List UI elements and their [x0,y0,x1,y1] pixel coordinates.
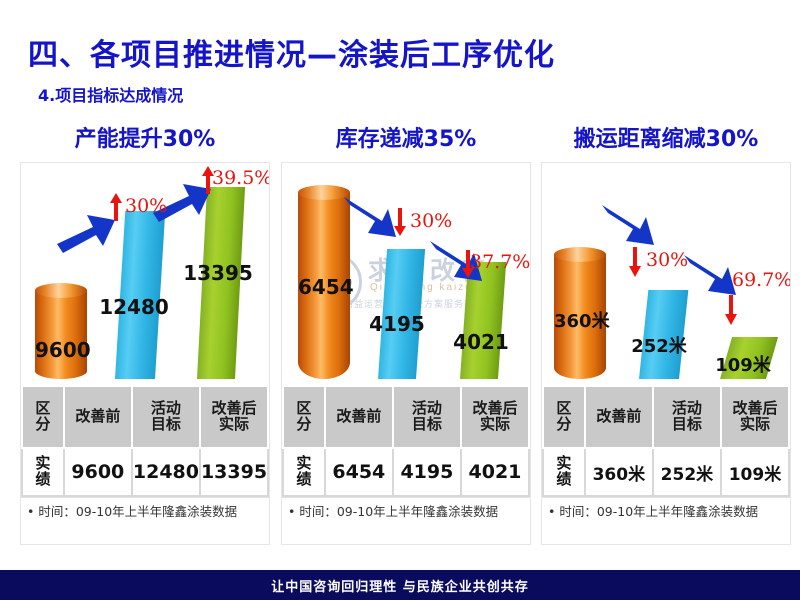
chart-capacity: 9600 12480 13395 [21,163,269,385]
th-target: 活动 目标 [393,386,461,448]
table-header-row: 区 分 改善前 活动 目标 改善后 [283,386,529,448]
th-actual: 改善后 实际 [461,386,529,448]
pct-label-2: 37.7% [470,251,530,273]
chart-distance: 360米 252米 109米 [542,163,790,385]
td-target: 12480 [132,448,200,496]
data-table-capacity: 区 分 改善前 活动 目标 改善后 [21,385,269,497]
panel-title-capacity: 产能提升30% [20,120,270,162]
th-actual: 改善后 实际 [721,386,789,448]
panel-note-inventory: • 时间：09-10年上半年隆鑫涂装数据 [282,497,530,526]
th-before: 改善前 [64,386,132,448]
panel-body-inventory: 求正改善 Qiu Zheng kaizen 精益运营整体解决方案服务商 6454… [281,162,531,545]
td-before: 360米 [585,448,653,496]
th-category: 区 分 [22,386,64,448]
metric-panel-distance: 搬运距离缩减30% 360米 252米 [541,120,791,545]
bar-target-inventory: 4195 [378,249,416,379]
table-row: 实 绩 6454 4195 4021 [283,448,529,496]
table-header-row: 区 分 改善前 活动 目标 改善后 [22,386,268,448]
trend-arrow-1-icon [600,199,662,247]
metric-panel-capacity: 产能提升30% 9600 12480 [20,120,270,545]
panels-container: 产能提升30% 9600 12480 [0,120,800,550]
pct-label-1: 30% [410,210,452,232]
bar-before-label: 360米 [554,307,606,333]
bar-target-label: 12480 [79,295,189,319]
td-before: 6454 [325,448,393,496]
pct-arrow-1-icon [629,247,641,282]
bar-before-label: 9600 [35,338,87,362]
bar-target-distance: 252米 [639,290,679,379]
trend-arrow-1-icon [55,210,117,254]
th-before: 改善前 [585,386,653,448]
th-target: 活动 目标 [653,386,721,448]
pct-arrow-1-icon [394,208,406,241]
bar-before-label: 6454 [298,275,350,299]
td-row-label: 实 绩 [543,448,585,496]
td-row-label: 实 绩 [283,448,325,496]
th-target: 活动 目标 [132,386,200,448]
pct-arrow-2-icon [725,295,737,330]
table-header-row: 区 分 改善前 活动 目标 改善后 [543,386,789,448]
slide-root: 四、各项目推进情况—涂装后工序优化 4.项目指标达成情况 产能提升30% 960… [0,0,800,600]
th-category: 区 分 [283,386,325,448]
td-actual: 4021 [461,448,529,496]
bar-before-cap [554,247,606,262]
bar-actual-label: 4021 [426,330,530,354]
pct-label-1: 30% [646,249,688,271]
pct-label-2: 39.5% [212,167,269,189]
panel-title-inventory: 库存递减35% [281,120,531,162]
chart-inventory: 求正改善 Qiu Zheng kaizen 精益运营整体解决方案服务商 6454… [282,163,530,385]
td-actual: 13395 [200,448,268,496]
pct-label-2: 69.7% [732,269,790,291]
footer-bar: 让中国咨询回归理性 与民族企业共创共存 [0,570,800,600]
th-actual: 改善后 实际 [200,386,268,448]
panel-body-capacity: 9600 12480 13395 [20,162,270,545]
th-before: 改善前 [325,386,393,448]
td-actual: 109米 [721,448,789,496]
footer-text: 让中国咨询回归理性 与民族企业共创共存 [271,576,529,595]
data-table-distance: 区 分 改善前 活动 目标 改善后 [542,385,790,497]
td-target: 4195 [393,448,461,496]
td-before: 9600 [64,448,132,496]
bar-target-capacity: 12480 [115,211,155,379]
panel-note-capacity: • 时间：09-10年上半年隆鑫涂装数据 [21,497,269,526]
table-row: 实 绩 9600 12480 13395 [22,448,268,496]
bar-actual-distance: 109米 [720,337,766,379]
bar-before-distance: 360米 [554,247,606,379]
metric-panel-inventory: 库存递减35% 求正改善 Qiu Zheng kaizen 精益运营整体解决方案… [281,120,531,545]
td-target: 252米 [653,448,721,496]
bar-actual-label: 109米 [688,351,790,377]
table-row: 实 绩 360米 252米 109米 [543,448,789,496]
panel-title-distance: 搬运距离缩减30% [541,120,791,162]
data-table-inventory: 区 分 改善前 活动 目标 改善后 [282,385,530,497]
page-subtitle: 4.项目指标达成情况 [38,82,183,106]
panel-note-distance: • 时间：09-10年上半年隆鑫涂装数据 [542,497,790,526]
td-row-label: 实 绩 [22,448,64,496]
th-category: 区 分 [543,386,585,448]
panel-body-distance: 360米 252米 109米 [541,162,791,545]
pct-label-1: 30% [125,195,167,217]
bar-actual-label: 13395 [163,261,269,285]
page-title: 四、各项目推进情况—涂装后工序优化 [28,30,555,74]
pct-arrow-1-icon [110,193,122,226]
